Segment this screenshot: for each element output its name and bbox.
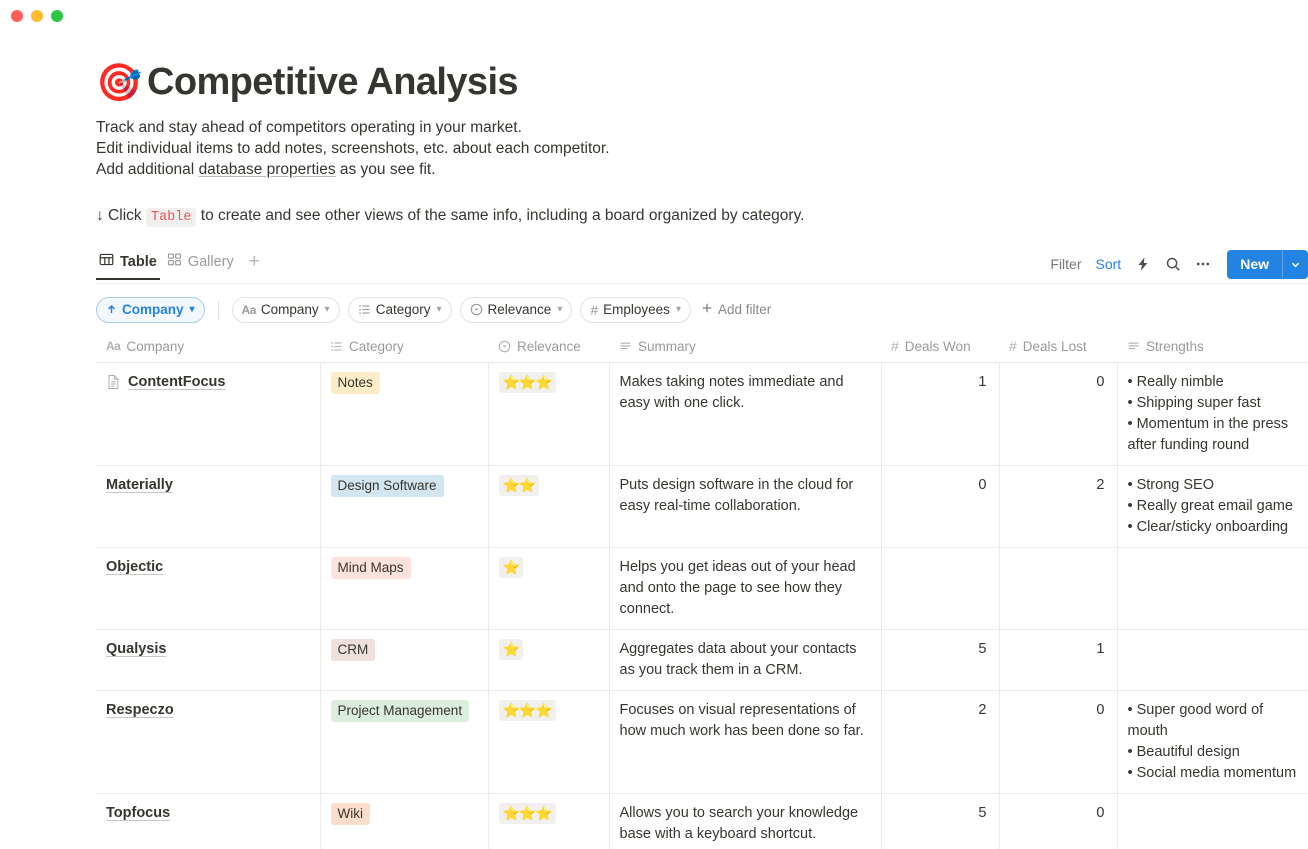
category-tag: Wiki [331, 803, 371, 825]
company-name-link[interactable]: Respeczo [106, 700, 174, 721]
column-header-deals-won-label: Deals Won [905, 339, 971, 354]
company-name-link[interactable]: ContentFocus [128, 372, 225, 393]
page-description: Track and stay ahead of competitors oper… [96, 117, 1308, 180]
arrow-up-icon [106, 304, 117, 315]
filter-chip-relevance[interactable]: Relevance ▾ [460, 297, 573, 323]
dart-target-emoji: 🎯 [96, 64, 138, 101]
filter-sort-chip-row: Company ▾ Aa Company ▾ Category ▾ [96, 297, 1308, 323]
relevance-stars: ⭐⭐ [499, 475, 540, 496]
cell-relevance[interactable]: ⭐⭐ [488, 465, 609, 547]
cell-company[interactable]: Respeczo [96, 690, 320, 793]
cell-company[interactable]: Qualysis [96, 629, 320, 690]
sort-chip-label: Company [122, 302, 184, 317]
company-name-link[interactable]: Topfocus [106, 803, 170, 824]
relevance-stars: ⭐⭐⭐ [499, 700, 556, 721]
category-tag: Notes [331, 372, 380, 394]
page-header: 🎯 Competitive Analysis [96, 62, 1308, 104]
column-header-deals-won[interactable]: # Deals Won [881, 331, 999, 363]
cell-strengths[interactable] [1117, 629, 1308, 690]
window-titlebar [0, 0, 1308, 32]
window-minimize-button[interactable] [31, 10, 43, 22]
column-header-strengths[interactable]: Strengths [1117, 331, 1308, 363]
cell-relevance[interactable]: ⭐⭐⭐ [488, 362, 609, 465]
relevance-stars: ⭐⭐⭐ [499, 372, 556, 393]
category-tag: CRM [331, 639, 376, 661]
chevron-down-icon: ▾ [436, 304, 441, 315]
view-toolbar-actions: Filter Sort New [1050, 250, 1308, 283]
category-tag: Design Software [331, 475, 444, 497]
filter-chip-employees[interactable]: # Employees ▾ [580, 297, 691, 323]
table-row[interactable]: RespeczoProject Management⭐⭐⭐Focuses on … [96, 690, 1308, 793]
cell-company[interactable]: Objectic [96, 547, 320, 629]
cell-company[interactable]: Topfocus [96, 793, 320, 849]
cell-category[interactable]: Design Software [320, 465, 488, 547]
column-header-category[interactable]: Category [320, 331, 488, 363]
select-list-icon [330, 340, 343, 353]
column-header-company[interactable]: Aa Company [96, 331, 320, 363]
cell-summary[interactable]: Focuses on visual representations of how… [609, 690, 881, 793]
add-view-button[interactable]: + [241, 252, 268, 279]
search-icon[interactable] [1165, 256, 1181, 272]
select-circle-icon [470, 303, 483, 316]
cell-deals-lost[interactable] [999, 547, 1117, 629]
cell-company[interactable]: ContentFocus [96, 362, 320, 465]
description-line-3-pre: Add additional [96, 161, 199, 178]
cell-relevance[interactable]: ⭐ [488, 629, 609, 690]
cell-relevance[interactable]: ⭐⭐⭐ [488, 690, 609, 793]
view-hint-pre: ↓ Click [96, 207, 146, 224]
cell-deals-lost[interactable]: 1 [999, 629, 1117, 690]
filter-chip-company[interactable]: Aa Company ▾ [232, 297, 340, 323]
tab-gallery[interactable]: Gallery [164, 252, 237, 279]
tab-table-label: Table [120, 254, 157, 270]
table-row[interactable]: QualysisCRM⭐Aggregates data about your c… [96, 629, 1308, 690]
filter-button[interactable]: Filter [1050, 256, 1081, 272]
chevron-down-icon[interactable] [1282, 250, 1308, 279]
category-tag: Project Management [331, 700, 470, 722]
add-filter-button[interactable]: Add filter [699, 302, 771, 317]
view-toolbar: Table Gallery + Filter [96, 250, 1308, 284]
cell-strengths[interactable]: • Really nimble • Shipping super fast • … [1117, 362, 1308, 465]
select-list-icon [358, 303, 371, 316]
table-header-row: Aa Company [96, 331, 1308, 363]
cell-deals-lost[interactable]: 2 [999, 465, 1117, 547]
column-header-deals-lost-label: Deals Lost [1023, 339, 1087, 354]
new-button[interactable]: New [1227, 250, 1308, 279]
cell-summary[interactable]: Makes taking notes immediate and easy wi… [609, 362, 881, 465]
filter-chip-category[interactable]: Category ▾ [348, 297, 452, 323]
cell-deals-lost[interactable]: 0 [999, 362, 1117, 465]
relevance-stars: ⭐ [499, 639, 523, 660]
cell-relevance[interactable]: ⭐ [488, 547, 609, 629]
table-body: ContentFocusNotes⭐⭐⭐Makes taking notes i… [96, 362, 1308, 849]
select-circle-icon [498, 340, 511, 353]
cell-deals-won[interactable]: 1 [881, 362, 999, 465]
cell-summary[interactable]: Aggregates data about your contacts as y… [609, 629, 881, 690]
lightning-icon[interactable] [1135, 256, 1151, 272]
chevron-down-icon: ▾ [676, 304, 681, 315]
table-icon [99, 252, 114, 271]
text-lines-icon [1127, 340, 1140, 353]
filter-chip-company-label: Company [261, 302, 319, 317]
add-filter-label: Add filter [718, 302, 771, 317]
cell-summary[interactable]: Allows you to search your knowledge base… [609, 793, 881, 849]
view-tabs: Table Gallery + [96, 249, 268, 283]
chevron-down-icon: ▾ [557, 304, 562, 315]
text-lines-icon [619, 340, 632, 353]
new-button-label: New [1227, 250, 1282, 279]
company-name-link[interactable]: Materially [106, 475, 173, 496]
cell-deals-won[interactable] [881, 547, 999, 629]
text-property-icon: Aa [106, 339, 120, 353]
cell-summary[interactable]: Puts design software in the cloud for ea… [609, 465, 881, 547]
table-code-chip: Table [146, 208, 197, 227]
filter-chip-relevance-label: Relevance [488, 302, 552, 317]
window-close-button[interactable] [11, 10, 23, 22]
chevron-down-icon: ▾ [325, 304, 330, 315]
tab-table[interactable]: Table [96, 252, 160, 279]
table-row[interactable]: TopfocusWiki⭐⭐⭐Allows you to search your… [96, 793, 1308, 849]
chevron-down-icon: ▾ [190, 304, 195, 315]
cell-category[interactable]: Mind Maps [320, 547, 488, 629]
cell-deals-won[interactable]: 2 [881, 690, 999, 793]
ellipsis-icon[interactable] [1195, 256, 1211, 272]
chip-divider [218, 301, 219, 319]
tab-gallery-label: Gallery [188, 254, 234, 270]
view-hint-post: to create and see other views of the sam… [196, 207, 804, 224]
column-header-strengths-label: Strengths [1146, 339, 1204, 354]
cell-deals-lost[interactable]: 0 [999, 690, 1117, 793]
cell-category[interactable]: Wiki [320, 793, 488, 849]
cell-strengths[interactable] [1117, 547, 1308, 629]
text-property-icon: Aa [242, 303, 256, 317]
column-header-deals-lost[interactable]: # Deals Lost [999, 331, 1117, 363]
number-hash-icon: # [1009, 338, 1017, 354]
column-header-summary[interactable]: Summary [609, 331, 881, 363]
table-row[interactable]: MateriallyDesign Software⭐⭐Puts design s… [96, 465, 1308, 547]
database-properties-link[interactable]: database properties [199, 161, 336, 178]
cell-category[interactable]: Notes [320, 362, 488, 465]
column-header-relevance-label: Relevance [517, 339, 581, 354]
relevance-stars: ⭐⭐⭐ [499, 803, 556, 824]
filter-chip-category-label: Category [376, 302, 431, 317]
description-line-3: Add additional database properties as yo… [96, 159, 1308, 180]
cell-relevance[interactable]: ⭐⭐⭐ [488, 793, 609, 849]
company-name-link[interactable]: Qualysis [106, 639, 166, 660]
company-name-link[interactable]: Objectic [106, 557, 163, 578]
cell-strengths[interactable]: • Strong SEO • Really great email game •… [1117, 465, 1308, 547]
table-row[interactable]: ObjecticMind Maps⭐Helps you get ideas ou… [96, 547, 1308, 629]
cell-category[interactable]: Project Management [320, 690, 488, 793]
cell-deals-won[interactable]: 5 [881, 793, 999, 849]
plus-icon [701, 302, 713, 317]
gallery-icon [167, 252, 182, 271]
category-tag: Mind Maps [331, 557, 411, 579]
page-title: Competitive Analysis [147, 62, 518, 104]
page-document-icon [106, 374, 121, 397]
database-table: Aa Company [96, 331, 1308, 849]
page-content: 🎯 Competitive Analysis Track and stay ah… [96, 62, 1308, 849]
cell-deals-won[interactable]: 0 [881, 465, 999, 547]
cell-deals-lost[interactable]: 0 [999, 793, 1117, 849]
column-header-summary-label: Summary [638, 339, 696, 354]
window-zoom-button[interactable] [51, 10, 63, 22]
column-header-company-label: Company [126, 339, 184, 354]
description-line-3-post: as you see fit. [336, 161, 436, 178]
number-hash-icon: # [891, 338, 899, 354]
cell-strengths[interactable] [1117, 793, 1308, 849]
cell-company[interactable]: Materially [96, 465, 320, 547]
table-row[interactable]: ContentFocusNotes⭐⭐⭐Makes taking notes i… [96, 362, 1308, 465]
description-line-1: Track and stay ahead of competitors oper… [96, 117, 1308, 138]
filter-chip-employees-label: Employees [603, 302, 670, 317]
description-line-2: Edit individual items to add notes, scre… [96, 138, 1308, 159]
view-hint: ↓ Click Table to create and see other vi… [96, 205, 1308, 228]
cell-deals-won[interactable]: 5 [881, 629, 999, 690]
column-header-category-label: Category [349, 339, 404, 354]
cell-strengths[interactable]: • Super good word of mouth • Beautiful d… [1117, 690, 1308, 793]
cell-summary[interactable]: Helps you get ideas out of your head and… [609, 547, 881, 629]
page-body: 🎯 Competitive Analysis Track and stay ah… [0, 62, 1308, 849]
cell-category[interactable]: CRM [320, 629, 488, 690]
number-hash-icon: # [590, 302, 598, 318]
sort-chip-company[interactable]: Company ▾ [96, 297, 205, 323]
relevance-stars: ⭐ [499, 557, 523, 578]
sort-button[interactable]: Sort [1096, 256, 1122, 272]
column-header-relevance[interactable]: Relevance [488, 331, 609, 363]
